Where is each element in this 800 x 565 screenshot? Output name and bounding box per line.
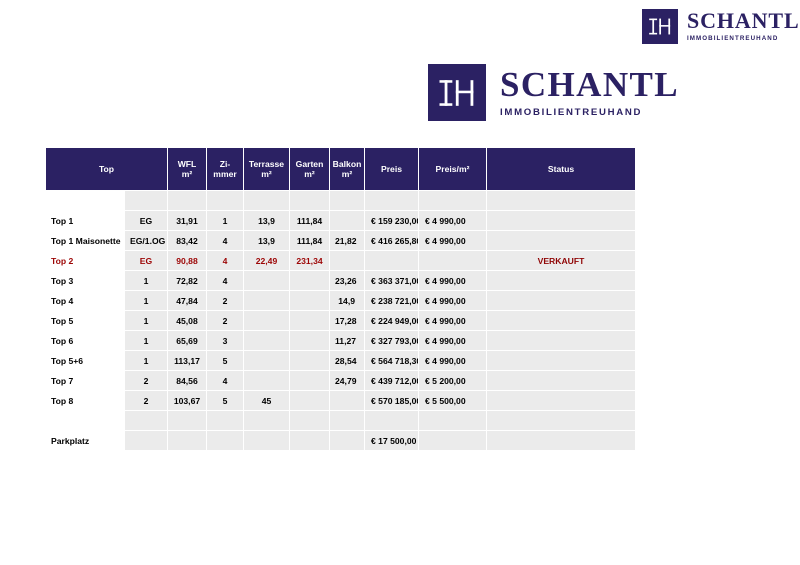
column-header-balkon: Balkon m² [330,148,364,190]
cell-unit-name: Top 5 [46,311,124,330]
cell-preis: € 570 185,00 [365,391,418,410]
table-row: Top 5145,08217,28€ 224 949,00€ 4 990,00 [46,311,635,330]
cell-preis [365,251,418,270]
cell-status [487,271,635,290]
table-header-row: Top WFL m² Zi- mmer Terrasse m² Garten m… [46,148,635,190]
cell-zimmer: 2 [207,291,243,310]
cell-garten [290,431,329,450]
cell-garten [290,291,329,310]
cell-wfl: 83,42 [168,231,206,250]
column-header-zimmer-line1: Zi- [220,159,231,169]
table-row [46,411,635,430]
cell-preis-pro-m2 [419,191,486,210]
cell-unit-name [46,411,124,430]
cell-zimmer: 1 [207,211,243,230]
cell-balkon [330,431,364,450]
cell-zimmer [207,191,243,210]
cell-preis-pro-m2 [419,431,486,450]
ith-monogram-icon [428,64,486,121]
cell-level: EG/1.OG [125,231,167,250]
cell-preis: € 363 371,00 [365,271,418,290]
cell-preis-pro-m2: € 4 990,00 [419,311,486,330]
brand-name: SCHANTL [500,67,679,102]
table-row: Top 5+61113,17528,54€ 564 718,30€ 4 990,… [46,351,635,370]
cell-terrasse [244,291,289,310]
cell-wfl: 45,08 [168,311,206,330]
cell-unit-name: Top 4 [46,291,124,310]
cell-wfl: 113,17 [168,351,206,370]
cell-zimmer: 5 [207,391,243,410]
column-header-wfl-line1: WFL [178,159,197,169]
cell-wfl: 72,82 [168,271,206,290]
table-row: Top 1 MaisonetteEG/1.OG83,42413,9111,842… [46,231,635,250]
cell-status [487,311,635,330]
cell-zimmer: 3 [207,331,243,350]
cell-wfl: 84,56 [168,371,206,390]
cell-terrasse [244,331,289,350]
brand-subtitle: IMMOBILIENTREUHAND [500,108,679,118]
table-row: Top 1EG31,91113,9111,84€ 159 230,00€ 4 9… [46,211,635,230]
cell-status [487,211,635,230]
cell-zimmer [207,411,243,430]
cell-terrasse: 13,9 [244,211,289,230]
cell-garten [290,391,329,410]
cell-level: 1 [125,271,167,290]
column-header-terrasse-line2: m² [246,169,287,179]
cell-balkon: 23,26 [330,271,364,290]
cell-preis-pro-m2: € 4 990,00 [419,291,486,310]
cell-preis: € 439 712,00 [365,371,418,390]
apartment-price-table: Top WFL m² Zi- mmer Terrasse m² Garten m… [45,147,636,451]
cell-unit-name: Top 6 [46,331,124,350]
cell-preis: € 17 500,00 [365,431,418,450]
cell-garten: 111,84 [290,211,329,230]
cell-balkon: 11,27 [330,331,364,350]
cell-garten [290,311,329,330]
cell-preis-pro-m2: € 5 500,00 [419,391,486,410]
cell-balkon: 14,9 [330,291,364,310]
cell-preis [365,191,418,210]
cell-unit-name: Parkplatz [46,431,124,450]
cell-status [487,291,635,310]
column-header-top: Top [46,148,167,190]
cell-preis: € 238 721,00 [365,291,418,310]
cell-level: 1 [125,331,167,350]
cell-terrasse: 22,49 [244,251,289,270]
cell-preis-pro-m2: € 4 990,00 [419,331,486,350]
cell-terrasse: 45 [244,391,289,410]
cell-level: 2 [125,391,167,410]
cell-preis-pro-m2: € 5 200,00 [419,371,486,390]
cell-preis-pro-m2: € 4 990,00 [419,271,486,290]
cell-garten [290,271,329,290]
cell-balkon [330,211,364,230]
cell-terrasse [244,311,289,330]
cell-status [487,191,635,210]
brand-subtitle: IMMOBILIENTREUHAND [687,36,800,42]
cell-level: EG [125,251,167,270]
cell-terrasse [244,431,289,450]
cell-garten [290,411,329,430]
cell-zimmer: 4 [207,271,243,290]
column-header-garten-line2: m² [292,169,327,179]
cell-balkon: 17,28 [330,311,364,330]
cell-unit-name: Top 8 [46,391,124,410]
cell-status [487,431,635,450]
cell-zimmer [207,431,243,450]
cell-preis [365,411,418,430]
cell-zimmer: 4 [207,251,243,270]
column-header-preis-pro-m2: Preis/m² [419,148,486,190]
cell-unit-name [46,191,124,210]
cell-terrasse [244,371,289,390]
cell-wfl: 47,84 [168,291,206,310]
column-header-balkon-line1: Balkon [333,159,362,169]
cell-level: EG [125,211,167,230]
cell-level: 1 [125,311,167,330]
column-header-wfl-line2: m² [170,169,204,179]
cell-level [125,191,167,210]
table-row [46,191,635,210]
cell-preis: € 564 718,30 [365,351,418,370]
cell-status [487,371,635,390]
table-row: Top 82103,67545€ 570 185,00€ 5 500,00 [46,391,635,410]
table-row: Top 4147,84214,9€ 238 721,00€ 4 990,00 [46,291,635,310]
cell-preis-pro-m2: € 4 990,00 [419,351,486,370]
cell-preis-pro-m2: € 4 990,00 [419,231,486,250]
cell-garten [290,331,329,350]
cell-status: VERKAUFT [487,251,635,270]
cell-balkon [330,411,364,430]
cell-wfl: 65,69 [168,331,206,350]
cell-balkon [330,191,364,210]
cell-unit-name: Top 5+6 [46,351,124,370]
cell-terrasse: 13,9 [244,231,289,250]
cell-unit-name: Top 1 Maisonette [46,231,124,250]
cell-balkon: 21,82 [330,231,364,250]
cell-balkon [330,251,364,270]
column-header-zimmer: Zi- mmer [207,148,243,190]
cell-terrasse [244,191,289,210]
cell-status [487,331,635,350]
cell-wfl [168,411,206,430]
cell-garten [290,351,329,370]
cell-garten: 231,34 [290,251,329,270]
cell-status [487,231,635,250]
cell-preis: € 224 949,00 [365,311,418,330]
table-row: Parkplatz€ 17 500,00 [46,431,635,450]
cell-preis: € 159 230,00 [365,211,418,230]
column-header-balkon-line2: m² [332,169,362,179]
column-header-terrasse: Terrasse m² [244,148,289,190]
cell-preis-pro-m2: € 4 990,00 [419,211,486,230]
cell-zimmer: 4 [207,231,243,250]
cell-unit-name: Top 7 [46,371,124,390]
cell-terrasse [244,411,289,430]
cell-preis-pro-m2 [419,411,486,430]
brand-name: SCHANTL [687,10,800,32]
column-header-status: Status [487,148,635,190]
column-header-garten-line1: Garten [296,159,324,169]
cell-level: 1 [125,291,167,310]
cell-balkon [330,391,364,410]
cell-wfl: 31,91 [168,211,206,230]
cell-unit-name: Top 1 [46,211,124,230]
column-header-wfl: WFL m² [168,148,206,190]
cell-preis: € 327 793,00 [365,331,418,350]
cell-preis-pro-m2 [419,251,486,270]
cell-level [125,431,167,450]
ith-monogram-icon [642,9,678,44]
cell-wfl [168,191,206,210]
table-row: Top 3172,82423,26€ 363 371,00€ 4 990,00 [46,271,635,290]
cell-garten: 111,84 [290,231,329,250]
cell-terrasse [244,351,289,370]
cell-wfl [168,431,206,450]
cell-zimmer: 2 [207,311,243,330]
table-body: Top 1EG31,91113,9111,84€ 159 230,00€ 4 9… [46,191,635,450]
table-row: Top 7284,56424,79€ 439 712,00€ 5 200,00 [46,371,635,390]
cell-balkon: 24,79 [330,371,364,390]
cell-status [487,411,635,430]
cell-level: 1 [125,351,167,370]
brand-logo-large: SCHANTL IMMOBILIENTREUHAND [428,64,679,121]
cell-balkon: 28,54 [330,351,364,370]
cell-garten [290,371,329,390]
table-row: Top 2EG90,88422,49231,34VERKAUFT [46,251,635,270]
cell-level: 2 [125,371,167,390]
cell-status [487,351,635,370]
cell-wfl: 103,67 [168,391,206,410]
cell-terrasse [244,271,289,290]
cell-zimmer: 5 [207,351,243,370]
cell-garten [290,191,329,210]
cell-zimmer: 4 [207,371,243,390]
column-header-preis: Preis [365,148,418,190]
column-header-garten: Garten m² [290,148,329,190]
cell-status [487,391,635,410]
cell-level [125,411,167,430]
cell-unit-name: Top 3 [46,271,124,290]
brand-logo-small: SCHANTL IMMOBILIENTREUHAND [642,9,800,44]
cell-wfl: 90,88 [168,251,206,270]
table-row: Top 6165,69311,27€ 327 793,00€ 4 990,00 [46,331,635,350]
column-header-zimmer-line2: mmer [209,169,241,179]
cell-unit-name: Top 2 [46,251,124,270]
column-header-terrasse-line1: Terrasse [249,159,284,169]
cell-preis: € 416 265,80 [365,231,418,250]
